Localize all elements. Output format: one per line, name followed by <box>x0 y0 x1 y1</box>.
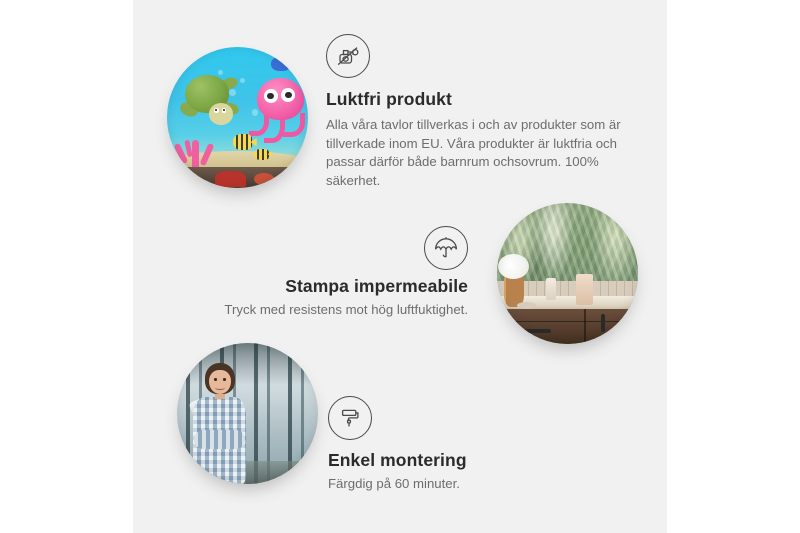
blue-fish-icon <box>271 57 289 71</box>
woman-face <box>209 370 230 394</box>
umbrella-icon <box>424 226 468 270</box>
red-rock <box>254 173 274 186</box>
soap-dish <box>517 302 537 309</box>
feature-body: Färgdig på 60 minuter. <box>328 475 588 494</box>
ocean-illustration <box>167 47 308 188</box>
paint-roller-icon <box>328 396 372 440</box>
soap-dispenser <box>546 278 556 301</box>
product-image-forest[interactable] <box>177 343 318 484</box>
feature-easy-assembly: Enkel montering Färgdig på 60 minuter. <box>328 396 588 494</box>
woman-eye <box>223 378 226 380</box>
woman-arms <box>194 430 245 448</box>
product-image-bathroom[interactable] <box>497 203 638 344</box>
turtle-head <box>209 103 233 124</box>
yellow-fish-icon <box>254 149 268 160</box>
turtle-eye <box>214 108 219 113</box>
red-rock <box>215 171 246 187</box>
feature-body: Alla våra tavlor tillverkas i och av pro… <box>326 116 626 191</box>
screenshot-root: Luktfri produkt Alla våra tavlor tillver… <box>0 0 800 533</box>
octopus-eye <box>264 89 278 103</box>
turtle-eye <box>222 108 227 113</box>
icon-wrapper <box>206 226 468 270</box>
towel <box>576 274 593 305</box>
woman-smile <box>215 385 225 389</box>
feature-body: Tryck med resistens mot hög luftfuktighe… <box>206 301 468 320</box>
cabinet-handle <box>601 314 605 332</box>
yellow-fish-icon <box>233 134 251 150</box>
octopus-head <box>257 78 304 120</box>
bathroom-photo <box>497 203 638 344</box>
feature-odourless: Luktfri produkt Alla våra tavlor tillver… <box>326 34 626 191</box>
octopus-eye <box>281 88 295 102</box>
drawer-handle <box>517 329 551 333</box>
feature-title: Enkel montering <box>328 450 588 471</box>
drawer-seam <box>497 321 638 323</box>
feature-waterproof: Stampa impermeabile Tryck med resistens … <box>206 226 468 320</box>
cabinet-seam <box>584 309 586 344</box>
no-fragrance-icon <box>326 34 370 78</box>
coral-icon <box>175 133 217 170</box>
feature-title: Luktfri produkt <box>326 89 626 110</box>
forest-photo <box>177 343 318 484</box>
feature-title: Stampa impermeabile <box>206 276 468 297</box>
forest-canopy <box>177 343 318 385</box>
bubble-icon <box>240 78 245 83</box>
product-image-ocean[interactable] <box>167 47 308 188</box>
wood-vanity <box>497 309 638 344</box>
